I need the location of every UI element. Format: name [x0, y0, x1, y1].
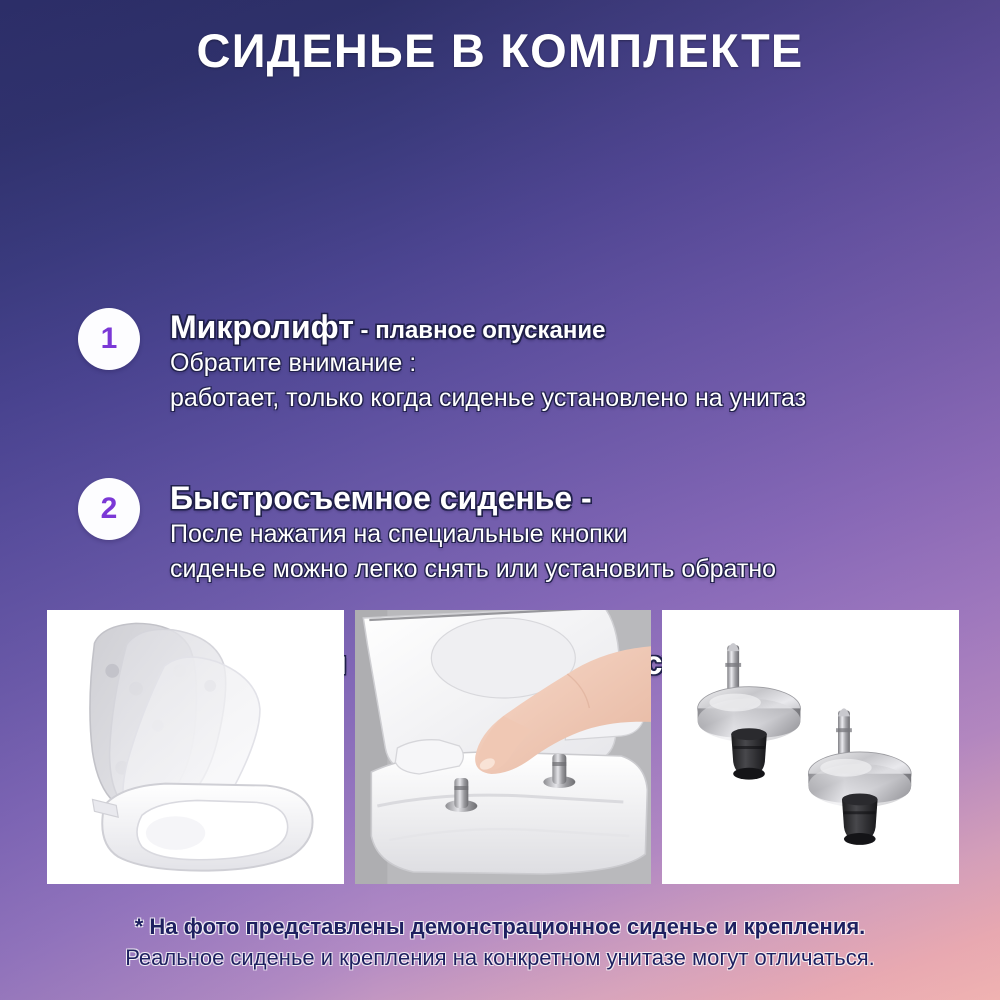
feature-text-block-2: Быстросъемное сиденье - После нажатия на…: [0, 481, 1000, 588]
feature-body-line-2-2: сиденье можно легко снять или установить…: [170, 552, 972, 588]
feature-headline-rest-1: - плавное опускание: [354, 317, 606, 344]
seat-quick-release-photo: [355, 610, 652, 884]
seat-quick-release-illustration: [355, 610, 652, 884]
feature-body-line-1-2: работает, только когда сиденье установле…: [170, 381, 972, 417]
footnote-line-2: Реальное сиденье и крепления на конкретн…: [0, 941, 1000, 974]
feature-text-block-1: Микролифт - плавное опускание Обратите в…: [0, 310, 1000, 417]
toilet-seat-softclose-photo: [47, 610, 344, 884]
page-title: СИДЕНЬЕ В КОМПЛЕКТЕ: [0, 26, 1000, 75]
feature-body-line-2-1: После нажатия на специальные кнопки: [170, 517, 972, 553]
feature-headline-bold-1: Микролифт: [170, 309, 354, 345]
feature-headline-bold-2: Быстросъемное сиденье -: [170, 480, 592, 516]
feature-body-line-1-1: Обратите внимание :: [170, 346, 972, 382]
footnote-line-1: * На фото представлены демонстрационное …: [0, 912, 1000, 941]
toilet-seat-softclose-illustration: [47, 610, 344, 884]
feature-headline-1: Микролифт - плавное опускание: [170, 310, 972, 346]
feature-headline-2: Быстросъемное сиденье -: [170, 481, 972, 517]
product-photo-strip: [47, 610, 959, 884]
stainless-fixings-illustration: [662, 610, 959, 884]
promo-page: СИДЕНЬЕ В КОМПЛЕКТЕ 1 Микролифт - плавно…: [0, 0, 1000, 1000]
footnote: * На фото представлены демонстрационное …: [0, 912, 1000, 974]
stainless-fixings-photo: [662, 610, 959, 884]
